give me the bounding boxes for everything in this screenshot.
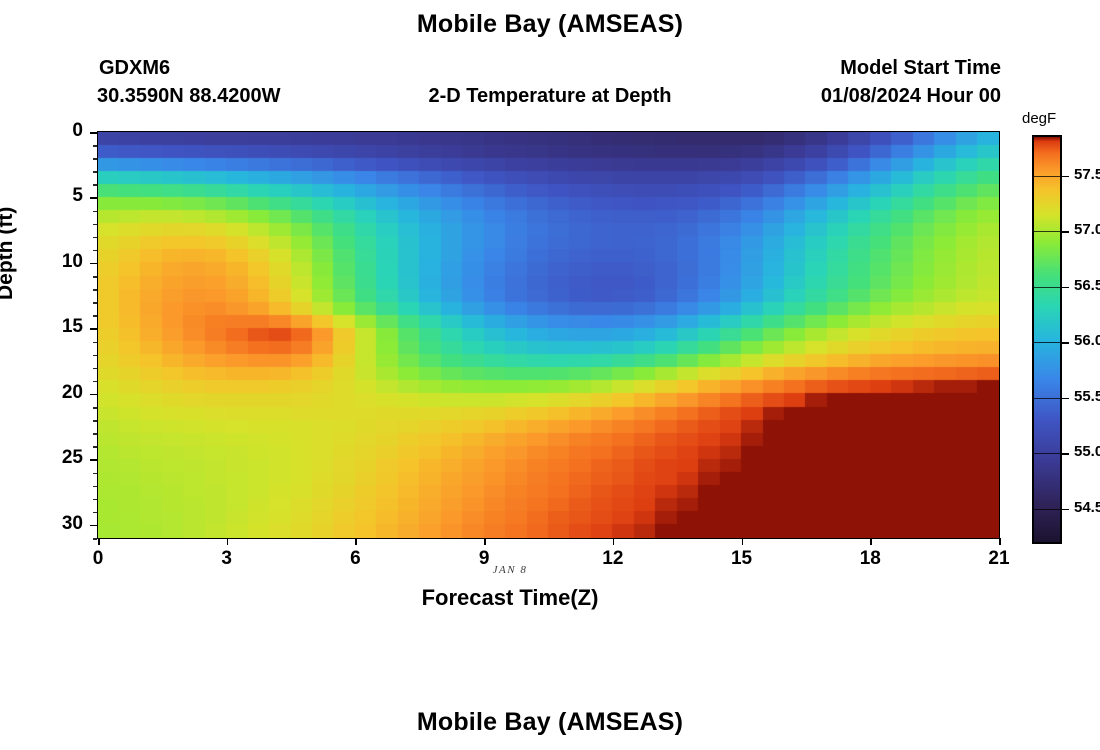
colorbar-tick-line [1034,176,1060,177]
y-minor-tick [93,211,97,213]
colorbar-tick [1060,509,1069,511]
temperature-heatmap [98,132,999,538]
y-minor-tick [93,420,97,422]
y-minor-tick [93,512,97,514]
y-tick [90,459,97,461]
x-tick [999,538,1001,545]
y-minor-tick [93,407,97,409]
y-minor-tick [93,158,97,160]
y-minor-tick [93,302,97,304]
colorbar-tick-label: 55.500 [1074,388,1100,405]
colorbar-tick-line [1034,287,1060,288]
colorbar-tick [1060,176,1069,178]
colorbar-tick-label: 57.500 [1074,166,1100,183]
colorbar-tick-line [1034,231,1060,232]
y-tick [90,525,97,527]
model-start-time-value: 01/08/2024 Hour 00 [821,85,1001,108]
x-tick [742,538,744,545]
colorbar-tick-label: 56.000 [1074,332,1100,349]
colorbar-units-label: degF [1022,110,1056,127]
colorbar-gradient [1034,137,1060,542]
colorbar-tick [1060,231,1069,233]
colorbar-tick [1060,453,1069,455]
colorbar-tick-line [1034,509,1060,510]
y-tick [90,263,97,265]
colorbar-tick [1060,342,1069,344]
y-minor-tick [93,289,97,291]
y-tick-label: 30 [23,513,83,535]
colorbar-tick-label: 55.000 [1074,443,1100,460]
page-title: Mobile Bay (AMSEAS) [0,10,1100,39]
y-minor-tick [93,224,97,226]
y-minor-tick [93,276,97,278]
colorbar-tick-label: 57.000 [1074,221,1100,238]
y-minor-tick [93,342,97,344]
x-tick [613,538,615,545]
heatmap-plot-area: 051015202530 036912151821 [97,131,1000,539]
y-minor-tick [93,538,97,540]
y-tick-label: 25 [23,447,83,469]
x-tick [355,538,357,545]
y-tick-label: 15 [23,316,83,338]
y-tick-label: 0 [23,120,83,142]
y-minor-tick [93,184,97,186]
y-minor-tick [93,368,97,370]
y-axis-title: Depth (ft) [0,207,18,300]
y-minor-tick [93,473,97,475]
x-tick [98,538,100,545]
station-id: GDXM6 [99,57,170,80]
y-minor-tick [93,381,97,383]
y-minor-tick [93,446,97,448]
y-tick-label: 5 [23,185,83,207]
colorbar-tick-label: 56.500 [1074,277,1100,294]
y-tick [90,394,97,396]
colorbar: 54.50055.00055.50056.00056.50057.00057.5… [1032,135,1062,544]
colorbar-tick-line [1034,453,1060,454]
x-tick [870,538,872,545]
y-minor-tick [93,315,97,317]
colorbar-tick-line [1034,342,1060,343]
y-tick [90,328,97,330]
y-minor-tick [93,486,97,488]
colorbar-tick-line [1034,398,1060,399]
y-minor-tick [93,499,97,501]
colorbar-tick [1060,287,1069,289]
x-axis-title: Forecast Time(Z) [0,585,1020,611]
colorbar-tick-label: 54.500 [1074,499,1100,516]
y-minor-tick [93,355,97,357]
colorbar-tick [1060,398,1069,400]
y-minor-tick [93,250,97,252]
x-tick [484,538,486,545]
footer-title: Mobile Bay (AMSEAS) [0,708,1100,737]
y-minor-tick [93,171,97,173]
y-minor-tick [93,433,97,435]
y-tick [90,132,97,134]
x-tick [227,538,229,545]
y-tick-label: 20 [23,382,83,404]
y-minor-tick [93,237,97,239]
y-tick [90,197,97,199]
model-start-time-label: Model Start Time [840,57,1001,80]
y-tick-label: 10 [23,251,83,273]
y-minor-tick [93,145,97,147]
date-stamp: JAN 8 [0,564,1020,576]
